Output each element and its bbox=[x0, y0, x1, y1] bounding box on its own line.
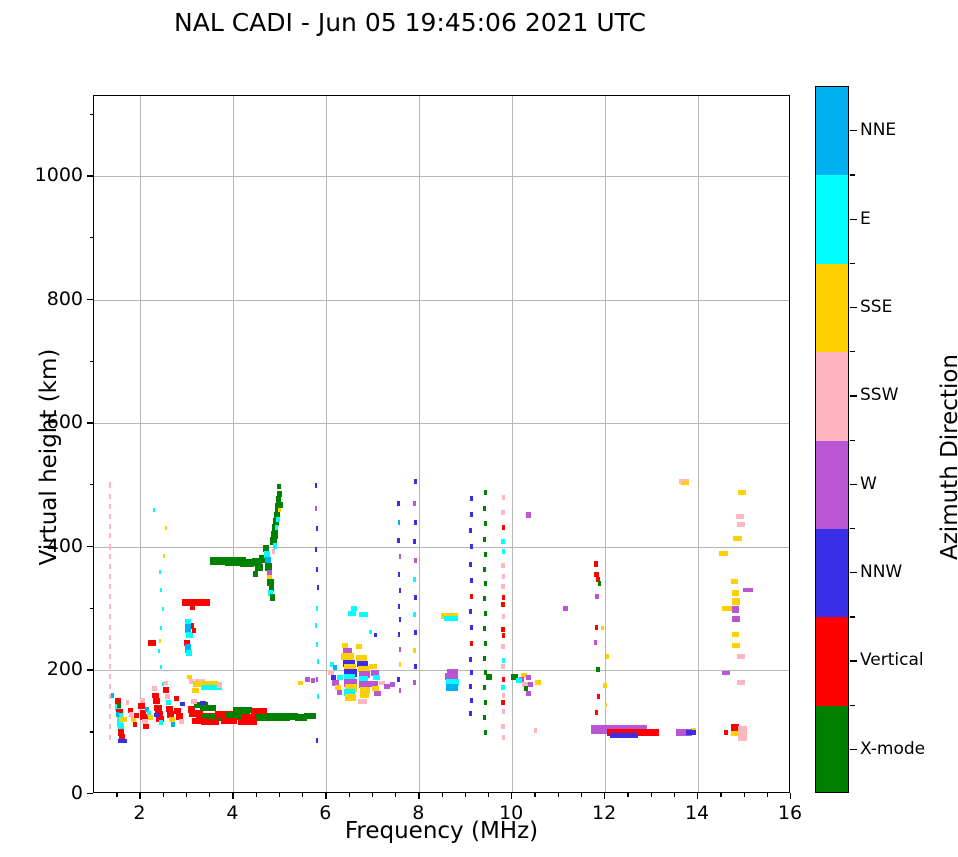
echo-mark bbox=[501, 724, 504, 729]
echo-mark bbox=[736, 514, 744, 519]
echo-mark bbox=[369, 664, 377, 669]
echo-mark bbox=[109, 654, 111, 659]
echo-mark bbox=[182, 599, 210, 606]
echo-mark bbox=[305, 677, 310, 682]
echo-mark bbox=[398, 632, 400, 637]
echo-mark bbox=[333, 665, 337, 670]
echo-mark bbox=[277, 484, 281, 489]
echo-mark bbox=[119, 717, 127, 722]
echo-mark bbox=[109, 644, 111, 649]
echo-mark bbox=[501, 627, 504, 632]
echo-mark bbox=[165, 526, 167, 530]
echo-mark bbox=[681, 481, 689, 485]
echo-mark bbox=[171, 722, 176, 727]
echo-mark bbox=[413, 577, 415, 582]
colorbar-boundary-tick bbox=[850, 616, 855, 617]
echo-mark bbox=[143, 724, 149, 729]
echo-mark bbox=[414, 479, 416, 484]
echo-mark bbox=[483, 715, 486, 720]
echo-mark bbox=[109, 594, 111, 599]
x-tick-major bbox=[511, 793, 512, 799]
echo-mark bbox=[444, 616, 458, 621]
echo-mark bbox=[140, 698, 145, 703]
echo-mark bbox=[160, 665, 162, 669]
echo-mark bbox=[733, 536, 741, 541]
x-tick-minor bbox=[116, 793, 117, 797]
echo-mark bbox=[719, 551, 728, 556]
echo-mark bbox=[724, 730, 729, 735]
colorbar-tick bbox=[850, 130, 857, 131]
y-tick-major bbox=[87, 175, 93, 176]
y-tick-major bbox=[87, 793, 93, 794]
echo-mark bbox=[133, 722, 138, 727]
echo-mark bbox=[109, 554, 111, 559]
y-tick-label: 200 bbox=[21, 658, 83, 680]
echo-mark bbox=[238, 719, 257, 725]
echo-mark bbox=[109, 674, 111, 679]
colorbar-title: Azimuth Direction bbox=[937, 297, 958, 617]
echo-mark bbox=[732, 606, 739, 613]
echo-mark bbox=[501, 510, 504, 515]
echo-mark bbox=[732, 590, 739, 596]
colorbar-segment-nne[interactable] bbox=[816, 87, 848, 175]
echo-mark bbox=[414, 558, 416, 563]
echo-mark bbox=[470, 496, 473, 501]
echo-mark bbox=[191, 699, 197, 704]
echo-mark bbox=[358, 699, 366, 704]
echo-mark bbox=[397, 538, 399, 543]
echo-mark bbox=[253, 571, 259, 577]
colorbar-segment-w[interactable] bbox=[816, 441, 848, 529]
echo-mark bbox=[315, 547, 317, 552]
echo-mark bbox=[160, 588, 162, 592]
colorbar-tick bbox=[850, 660, 857, 661]
y-tick-minor bbox=[90, 484, 94, 485]
echo-mark bbox=[109, 714, 111, 719]
echo-mark bbox=[374, 691, 381, 696]
x-tick-minor bbox=[767, 793, 768, 797]
echo-mark bbox=[413, 648, 415, 653]
colorbar-segment-vertical[interactable] bbox=[816, 617, 848, 705]
echo-mark bbox=[737, 522, 745, 527]
echo-mark bbox=[732, 616, 739, 622]
echo-mark bbox=[316, 567, 318, 572]
echo-mark bbox=[502, 549, 505, 554]
echo-mark bbox=[502, 574, 505, 579]
x-tick-major bbox=[418, 793, 419, 799]
echo-mark bbox=[414, 595, 416, 600]
echo-mark bbox=[737, 654, 744, 659]
x-tick-minor bbox=[488, 793, 489, 797]
echo-mark bbox=[109, 724, 111, 729]
echo-mark bbox=[342, 643, 349, 648]
echo-mark bbox=[398, 520, 400, 525]
echo-mark bbox=[483, 626, 486, 631]
echo-mark bbox=[343, 648, 352, 653]
echo-mark bbox=[163, 687, 169, 693]
echo-mark bbox=[315, 506, 317, 511]
echo-mark bbox=[316, 642, 318, 647]
x-tick-minor bbox=[302, 793, 303, 797]
echo-mark bbox=[483, 567, 486, 572]
echo-mark bbox=[166, 700, 172, 705]
colorbar-boundary-tick bbox=[850, 440, 855, 441]
colorbar-label-nnw: NNW bbox=[860, 562, 902, 582]
echo-mark bbox=[732, 632, 739, 637]
echo-mark bbox=[484, 552, 487, 557]
echo-mark bbox=[221, 718, 237, 724]
echo-mark bbox=[359, 612, 367, 617]
echo-mark bbox=[486, 674, 492, 680]
echo-mark bbox=[502, 677, 505, 682]
echo-mark bbox=[117, 703, 121, 708]
echo-mark bbox=[337, 675, 343, 680]
y-tick-minor bbox=[90, 731, 94, 732]
echo-mark bbox=[360, 692, 369, 698]
x-tick-minor bbox=[349, 793, 350, 797]
colorbar-segment-x-mode[interactable] bbox=[816, 706, 848, 793]
echo-mark bbox=[743, 588, 753, 592]
colorbar-label-e: E bbox=[860, 209, 871, 229]
x-tick-minor bbox=[720, 793, 721, 797]
echo-mark bbox=[484, 611, 487, 616]
colorbar-boundary-tick bbox=[850, 263, 855, 264]
x-tick-major bbox=[604, 793, 605, 799]
echo-mark bbox=[483, 596, 486, 601]
colorbar[interactable] bbox=[815, 86, 849, 793]
echo-mark bbox=[484, 490, 487, 495]
echo-mark bbox=[152, 693, 159, 698]
echo-mark bbox=[190, 604, 195, 610]
echo-mark bbox=[109, 504, 111, 509]
echo-mark bbox=[686, 730, 695, 735]
echo-mark bbox=[414, 630, 416, 635]
echo-mark bbox=[109, 482, 111, 488]
colorbar-label-w: W bbox=[860, 474, 877, 494]
colorbar-segment-e[interactable] bbox=[816, 175, 848, 263]
y-tick-major bbox=[87, 546, 93, 547]
colorbar-segment-sse[interactable] bbox=[816, 264, 848, 352]
echo-mark bbox=[276, 517, 280, 522]
echo-mark bbox=[316, 526, 318, 531]
x-tick-major bbox=[697, 793, 698, 799]
echo-mark bbox=[470, 544, 473, 549]
echo-mark bbox=[109, 635, 111, 640]
echo-mark bbox=[535, 680, 541, 685]
echo-mark bbox=[737, 680, 744, 685]
echo-mark bbox=[109, 704, 111, 709]
echo-mark bbox=[345, 694, 356, 701]
colorbar-segment-nnw[interactable] bbox=[816, 529, 848, 617]
echo-mark bbox=[109, 533, 111, 538]
echo-mark bbox=[528, 682, 533, 687]
echo-mark bbox=[594, 561, 599, 567]
echo-mark bbox=[356, 644, 363, 649]
y-tick-minor bbox=[90, 237, 94, 238]
echo-mark bbox=[126, 700, 130, 705]
echo-mark bbox=[413, 501, 415, 506]
echo-mark bbox=[446, 684, 458, 691]
echo-mark bbox=[390, 682, 395, 687]
colorbar-label-nne: NNE bbox=[860, 120, 896, 140]
echo-mark bbox=[610, 733, 638, 738]
echo-mark bbox=[317, 694, 319, 699]
echo-mark bbox=[399, 662, 401, 667]
colorbar-boundary-tick bbox=[850, 174, 855, 175]
echo-mark bbox=[470, 578, 473, 583]
x-tick-minor bbox=[163, 793, 164, 797]
echo-mark bbox=[109, 564, 111, 569]
echo-mark bbox=[501, 563, 504, 568]
echo-mark bbox=[483, 685, 486, 690]
echo-mark bbox=[469, 711, 472, 716]
x-tick-minor bbox=[186, 793, 187, 797]
echo-mark bbox=[483, 537, 486, 542]
echo-mark bbox=[484, 581, 487, 586]
echo-mark bbox=[165, 694, 171, 699]
echo-mark bbox=[470, 512, 473, 517]
echo-mark bbox=[109, 684, 111, 689]
x-tick-minor bbox=[674, 793, 675, 797]
echo-mark bbox=[399, 688, 401, 693]
echo-mark bbox=[397, 677, 399, 682]
echo-mark bbox=[594, 640, 597, 645]
echo-mark bbox=[469, 562, 472, 567]
echo-mark bbox=[109, 584, 111, 589]
plot-area[interactable] bbox=[93, 95, 790, 793]
echo-mark bbox=[501, 602, 504, 607]
y-tick-minor bbox=[90, 608, 94, 609]
y-tick-major bbox=[87, 669, 93, 670]
echo-mark bbox=[731, 579, 738, 584]
y-tick-label: 0 bbox=[21, 782, 83, 804]
echo-mark bbox=[596, 667, 600, 672]
x-tick-minor bbox=[256, 793, 257, 797]
echo-mark bbox=[738, 490, 746, 495]
echo-mark bbox=[348, 611, 355, 616]
echo-mark bbox=[373, 675, 380, 680]
echo-mark bbox=[200, 705, 216, 711]
echo-mark bbox=[118, 739, 127, 743]
echo-mark bbox=[272, 549, 276, 554]
echo-mark bbox=[187, 675, 192, 679]
colorbar-label-ssw: SSW bbox=[860, 385, 898, 405]
echo-mark bbox=[722, 671, 730, 675]
echo-mark bbox=[109, 524, 111, 529]
echo-mark bbox=[154, 705, 161, 711]
colorbar-tick bbox=[850, 219, 857, 220]
echo-mark bbox=[164, 681, 169, 685]
colorbar-label-x-mode: X-mode bbox=[860, 739, 925, 759]
echo-mark bbox=[159, 570, 161, 574]
echo-mark bbox=[162, 607, 164, 611]
echo-mark bbox=[217, 682, 223, 688]
echo-mark bbox=[109, 544, 111, 550]
echo-mark bbox=[502, 693, 505, 698]
echo-mark bbox=[484, 641, 487, 646]
echo-mark bbox=[398, 604, 400, 609]
echo-mark bbox=[154, 713, 160, 717]
echo-mark bbox=[298, 681, 303, 685]
colorbar-boundary-tick bbox=[850, 351, 855, 352]
echo-mark bbox=[315, 483, 317, 488]
echo-mark bbox=[337, 690, 343, 695]
echo-mark bbox=[109, 574, 111, 579]
colorbar-segment-ssw[interactable] bbox=[816, 352, 848, 440]
colorbar-boundary-tick bbox=[850, 528, 855, 529]
echo-mark bbox=[317, 585, 319, 590]
echo-mark bbox=[109, 604, 111, 609]
echo-mark bbox=[483, 506, 486, 511]
echo-mark bbox=[369, 630, 372, 634]
echo-mark bbox=[469, 609, 472, 614]
echo-mark bbox=[398, 572, 400, 577]
echo-mark bbox=[278, 507, 281, 512]
y-tick-major bbox=[87, 422, 93, 423]
echo-mark bbox=[179, 719, 185, 724]
echo-mark bbox=[275, 525, 279, 530]
echo-mark bbox=[109, 735, 111, 740]
echo-mark bbox=[470, 625, 473, 630]
x-tick-minor bbox=[279, 793, 280, 797]
echo-mark bbox=[501, 685, 504, 690]
x-axis-label: Frequency (MHz) bbox=[93, 818, 790, 844]
echo-mark bbox=[502, 658, 505, 663]
echo-mark bbox=[470, 641, 473, 646]
echo-mark bbox=[722, 606, 731, 611]
echo-mark bbox=[414, 520, 416, 525]
colorbar-tick bbox=[850, 749, 857, 750]
echo-mark bbox=[109, 625, 111, 630]
echo-mark bbox=[484, 700, 487, 705]
x-tick-minor bbox=[534, 793, 535, 797]
x-tick-minor bbox=[395, 793, 396, 797]
echo-mark bbox=[159, 639, 162, 643]
echo-mark bbox=[601, 626, 604, 630]
echo-mark bbox=[316, 606, 318, 611]
x-tick-major bbox=[790, 793, 791, 799]
echo-mark bbox=[526, 691, 531, 696]
echo-mark bbox=[470, 698, 473, 703]
x-tick-minor bbox=[651, 793, 652, 797]
echo-mark bbox=[384, 684, 390, 689]
colorbar-tick bbox=[850, 395, 857, 396]
x-tick-minor bbox=[744, 793, 745, 797]
x-tick-minor bbox=[465, 793, 466, 797]
echo-mark bbox=[502, 709, 505, 714]
echo-mark bbox=[277, 491, 282, 497]
echo-mark bbox=[502, 614, 505, 619]
echo-mark bbox=[134, 713, 139, 718]
echo-mark bbox=[153, 698, 160, 704]
x-tick-minor bbox=[581, 793, 582, 797]
echo-mark bbox=[304, 713, 316, 719]
echo-mark bbox=[351, 606, 358, 611]
echo-mark bbox=[534, 728, 538, 733]
echo-mark bbox=[502, 735, 505, 740]
echo-mark bbox=[273, 543, 277, 549]
echo-mark bbox=[502, 525, 505, 530]
echo-mark bbox=[502, 595, 505, 600]
echo-mark bbox=[233, 707, 252, 713]
echo-mark bbox=[605, 703, 608, 707]
echo-mark bbox=[413, 539, 415, 544]
echo-mark bbox=[598, 581, 602, 586]
echo-mark bbox=[109, 514, 111, 519]
echo-mark bbox=[251, 708, 267, 714]
x-tick-major bbox=[139, 793, 140, 799]
echo-mark bbox=[109, 494, 111, 499]
y-tick-minor bbox=[90, 361, 94, 362]
echo-mark bbox=[399, 647, 401, 652]
echo-mark bbox=[163, 554, 165, 558]
echo-mark bbox=[501, 700, 504, 705]
x-tick-major bbox=[232, 793, 233, 799]
colorbar-tick bbox=[850, 572, 857, 573]
echo-mark bbox=[595, 710, 598, 715]
y-tick-label: 1000 bbox=[21, 164, 83, 186]
echo-mark bbox=[158, 649, 160, 653]
echo-mark bbox=[526, 675, 531, 680]
echo-mark bbox=[732, 643, 739, 648]
echo-mark bbox=[502, 495, 505, 500]
echo-mark bbox=[148, 715, 153, 720]
echo-mark bbox=[160, 626, 162, 630]
echo-mark bbox=[399, 588, 401, 593]
echo-mark bbox=[469, 657, 472, 662]
echo-mark bbox=[399, 617, 401, 622]
echo-mark bbox=[603, 683, 607, 688]
colorbar-boundary-tick bbox=[850, 705, 855, 706]
echo-mark bbox=[595, 625, 598, 630]
x-tick-minor bbox=[442, 793, 443, 797]
echo-mark bbox=[138, 703, 145, 709]
echo-mark bbox=[111, 693, 113, 698]
echo-mark bbox=[278, 502, 283, 508]
colorbar-label-vertical: Vertical bbox=[860, 650, 924, 670]
echo-mark bbox=[397, 501, 399, 506]
echo-mark bbox=[374, 633, 377, 637]
echo-mark bbox=[484, 730, 487, 735]
echo-mark bbox=[200, 701, 207, 705]
x-tick-minor bbox=[372, 793, 373, 797]
echo-mark bbox=[595, 594, 599, 599]
echo-mark bbox=[148, 640, 156, 646]
echo-mark bbox=[469, 684, 472, 689]
echo-mark bbox=[501, 664, 504, 669]
echo-mark bbox=[470, 670, 473, 675]
x-tick-minor bbox=[209, 793, 210, 797]
echo-mark bbox=[469, 528, 472, 533]
echo-mark bbox=[399, 554, 401, 559]
y-tick-major bbox=[87, 299, 93, 300]
colorbar-tick bbox=[850, 307, 857, 308]
echo-mark bbox=[174, 696, 179, 701]
echo-mark bbox=[501, 539, 504, 544]
echo-mark bbox=[192, 688, 199, 693]
echo-mark bbox=[201, 719, 220, 725]
colorbar-tick bbox=[850, 484, 857, 485]
echo-mark bbox=[316, 738, 318, 743]
echo-mark bbox=[316, 677, 318, 682]
echo-mark bbox=[414, 664, 416, 669]
echo-mark bbox=[516, 678, 522, 683]
echo-mark bbox=[317, 659, 319, 664]
echo-mark bbox=[470, 594, 473, 599]
echo-mark bbox=[483, 656, 486, 661]
y-tick-minor bbox=[90, 114, 94, 115]
echo-mark bbox=[484, 521, 487, 526]
